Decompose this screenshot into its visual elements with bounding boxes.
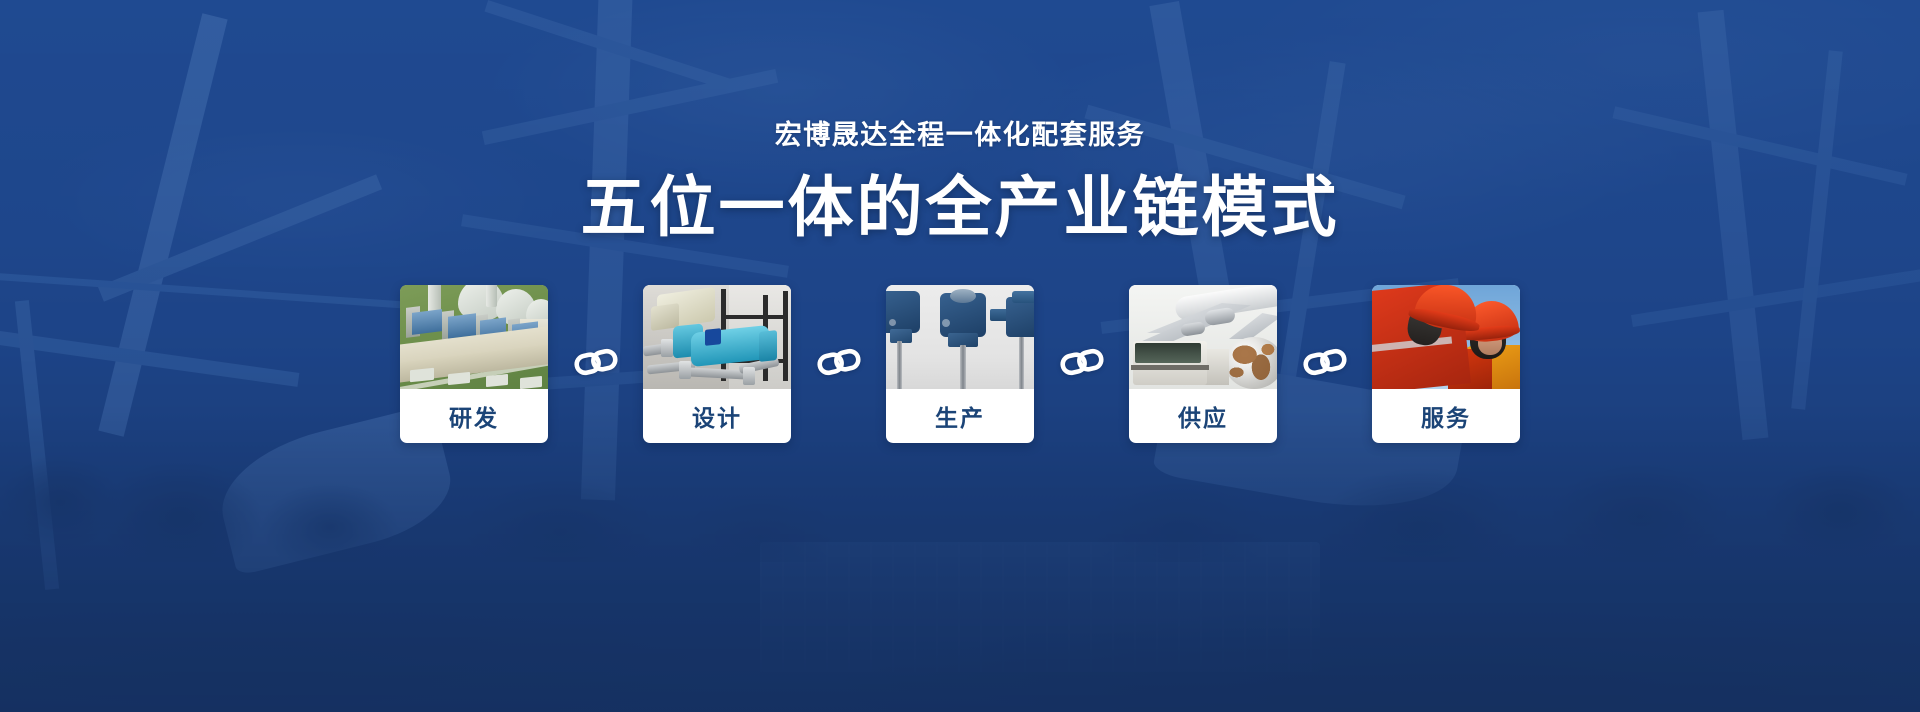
chain-step-card-production[interactable]: 生产: [886, 285, 1034, 443]
chain-step-label-supply: 供应: [1129, 389, 1277, 443]
banner-title: 五位一体的全产业链模式: [581, 175, 1340, 241]
chain-link-icon-1: [548, 348, 643, 376]
chain-link-icon-4: [1277, 348, 1372, 376]
cad-pump-skid-render: [643, 285, 791, 389]
hero-banner: 宏博晟达全程一体化配套服务 五位一体的全产业链模式: [0, 0, 1920, 712]
banner-subtitle: 宏博晟达全程一体化配套服务: [775, 122, 1146, 149]
chain-link-icon-2: [791, 348, 886, 376]
chain-link-icon-3: [1034, 348, 1129, 376]
field-service-workers-photo: [1372, 285, 1520, 389]
chain-step-label-research: 研发: [400, 389, 548, 443]
chain-step-label-production: 生产: [886, 389, 1034, 443]
logistics-airplane-truck-globe-photo: [1129, 285, 1277, 389]
chain-step-card-research[interactable]: 研发: [400, 285, 548, 443]
value-chain-row: 研发: [400, 285, 1520, 443]
chain-step-card-service[interactable]: 服务: [1372, 285, 1520, 443]
plant-aerial-photo: [400, 285, 548, 389]
banner-content: 宏博晟达全程一体化配套服务 五位一体的全产业链模式: [0, 0, 1920, 712]
chain-step-card-design[interactable]: 设计: [643, 285, 791, 443]
chain-step-label-design: 设计: [643, 389, 791, 443]
level-sensor-products-photo: [886, 285, 1034, 389]
chain-step-card-supply[interactable]: 供应: [1129, 285, 1277, 443]
chain-step-label-service: 服务: [1372, 389, 1520, 443]
